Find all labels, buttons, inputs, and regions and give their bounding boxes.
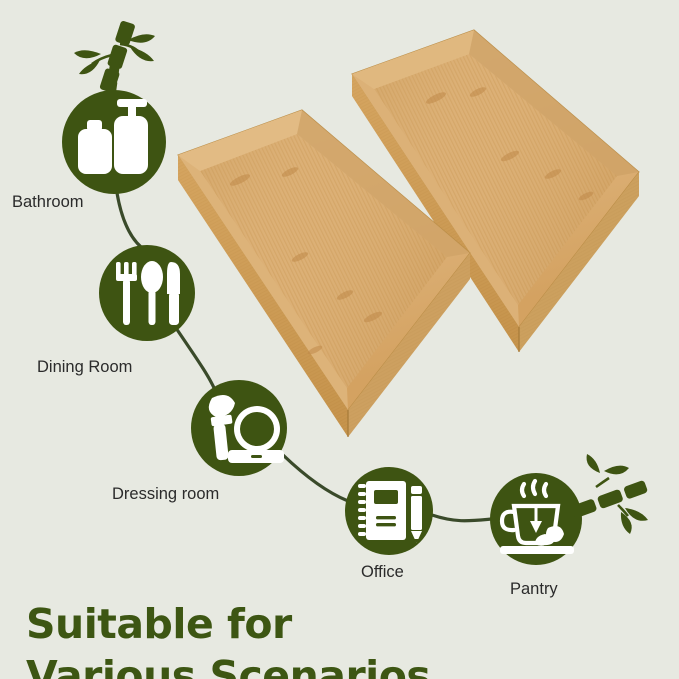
node-pantry[interactable] [490, 473, 582, 565]
node-dining-room[interactable] [99, 245, 195, 341]
node-label-dining-room: Dining Room [37, 358, 132, 377]
node-office[interactable] [345, 467, 433, 555]
connector-office-pantry [432, 515, 492, 521]
headline: Suitable for Various Scenarios [26, 546, 496, 679]
notebook-pencil-icon [358, 481, 422, 543]
connector-lines [117, 193, 492, 521]
node-label-dressing-room: Dressing room [112, 485, 219, 504]
bamboo-stalk-icon [74, 20, 155, 97]
headline-line-1: Suitable for [26, 600, 292, 648]
connector-bathroom-dining [117, 193, 141, 247]
connector-dining-dressing [176, 328, 215, 390]
node-dressing-room[interactable] [191, 380, 287, 476]
headline-line-2: Various Scenarios [26, 650, 496, 679]
connector-dressing-office [283, 455, 348, 501]
bamboo-branch-icon [570, 454, 648, 534]
node-bathroom[interactable] [62, 90, 166, 194]
node-label-pantry: Pantry [510, 580, 558, 599]
node-circle-dining-room[interactable] [99, 245, 195, 341]
node-label-bathroom: Bathroom [12, 193, 84, 212]
product-infographic: Bathroom Dining Room Dressing room Offic… [0, 0, 679, 679]
